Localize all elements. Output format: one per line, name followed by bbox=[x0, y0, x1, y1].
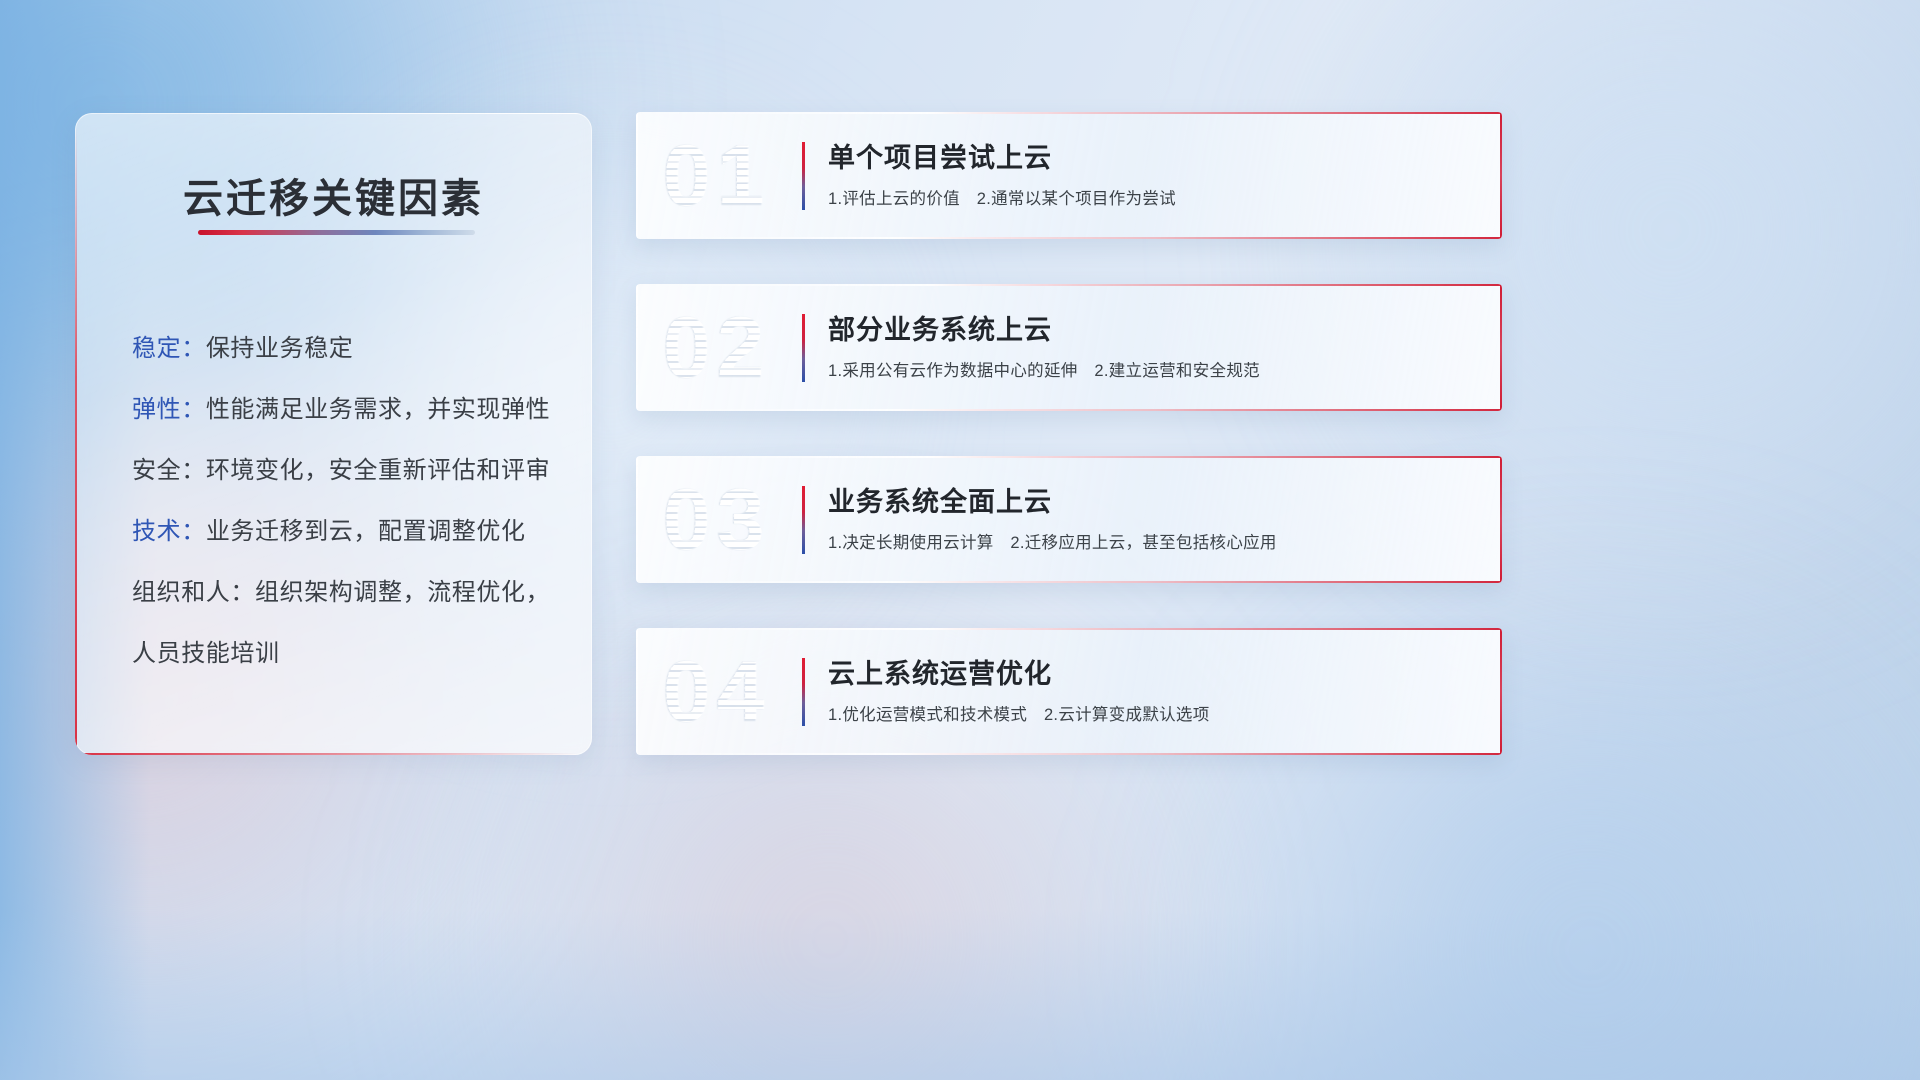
step-card-02[interactable]: 02 02 02 部分业务系统上云 1.采用公有云作为数据中心的延伸 2.建立运… bbox=[636, 284, 1502, 411]
step-body: 业务系统全面上云 1.决定长期使用云计算 2.迁移应用上云，甚至包括核心应用 bbox=[828, 483, 1478, 554]
card-edge-right-accent bbox=[1500, 456, 1502, 583]
factor-value: 环境变化，安全重新评估和评审 bbox=[206, 457, 550, 484]
factor-item-organization: 组织和人：组织架构调整，流程优化， bbox=[132, 562, 558, 623]
step-accent-bar bbox=[802, 142, 805, 210]
factor-item-organization-cont: 人员技能培训 bbox=[132, 623, 558, 684]
page-title: 云迁移关键因素 bbox=[75, 166, 592, 224]
step-description: 1.评估上云的价值 2.通常以某个项目作为尝试 bbox=[828, 188, 1478, 210]
step-description: 1.采用公有云作为数据中心的延伸 2.建立运营和安全规范 bbox=[828, 360, 1478, 382]
background-edge-bottom bbox=[0, 910, 1920, 1080]
card-edge-bottom-accent bbox=[77, 753, 580, 755]
card-edge-left bbox=[636, 284, 638, 411]
factor-list: 稳定：保持业务稳定 弹性：性能满足业务需求，并实现弹性 安全：环境变化，安全重新… bbox=[132, 318, 558, 684]
card-edge-left bbox=[636, 456, 638, 583]
factor-item-security: 安全：环境变化，安全重新评估和评审 bbox=[132, 440, 558, 501]
factor-item-elasticity: 弹性：性能满足业务需求，并实现弹性 bbox=[132, 379, 558, 440]
factor-item-technology: 技术：业务迁移到云，配置调整优化 bbox=[132, 501, 558, 562]
card-edge-left bbox=[636, 112, 638, 239]
step-number-watermark: 03 bbox=[662, 477, 770, 563]
card-edge-right-accent bbox=[1500, 112, 1502, 239]
factor-label: 弹性： bbox=[132, 396, 206, 423]
factor-item-stability: 稳定：保持业务稳定 bbox=[132, 318, 558, 379]
title-underline-gradient bbox=[198, 230, 475, 235]
step-description: 1.决定长期使用云计算 2.迁移应用上云，甚至包括核心应用 bbox=[828, 532, 1478, 554]
step-card-03[interactable]: 03 03 03 业务系统全面上云 1.决定长期使用云计算 2.迁移应用上云，甚… bbox=[636, 456, 1502, 583]
step-title: 部分业务系统上云 bbox=[828, 311, 1478, 349]
card-edge-bottom-accent bbox=[636, 237, 1502, 239]
card-edge-top-accent bbox=[636, 112, 1502, 114]
step-card-04[interactable]: 04 04 04 云上系统运营优化 1.优化运营模式和技术模式 2.云计算变成默… bbox=[636, 628, 1502, 755]
card-edge-top-accent bbox=[636, 284, 1502, 286]
factor-label: 安全： bbox=[132, 457, 206, 484]
card-edge-top-accent bbox=[636, 628, 1502, 630]
step-number-watermark: 02 bbox=[662, 305, 770, 391]
factor-value: 性能满足业务需求，并实现弹性 bbox=[206, 396, 550, 423]
factor-label: 技术： bbox=[132, 518, 206, 545]
step-number-watermark: 01 bbox=[662, 133, 770, 219]
step-description: 1.优化运营模式和技术模式 2.云计算变成默认选项 bbox=[828, 704, 1478, 726]
step-accent-bar bbox=[802, 314, 805, 382]
step-title: 云上系统运营优化 bbox=[828, 655, 1478, 693]
step-number-watermark: 04 bbox=[662, 649, 770, 735]
card-edge-right-accent bbox=[1500, 628, 1502, 755]
key-factors-card: 云迁移关键因素 稳定：保持业务稳定 弹性：性能满足业务需求，并实现弹性 安全：环… bbox=[75, 113, 592, 755]
step-card-01[interactable]: 01 01 01 单个项目尝试上云 1.评估上云的价值 2.通常以某个项目作为尝… bbox=[636, 112, 1502, 239]
step-accent-bar bbox=[802, 486, 805, 554]
factor-value: 保持业务稳定 bbox=[206, 335, 354, 362]
migration-steps-list: 01 01 01 单个项目尝试上云 1.评估上云的价值 2.通常以某个项目作为尝… bbox=[636, 112, 1502, 800]
card-edge-bottom-accent bbox=[636, 581, 1502, 583]
card-edge-right-accent bbox=[1500, 284, 1502, 411]
card-edge-left bbox=[636, 628, 638, 755]
card-edge-top-accent bbox=[636, 456, 1502, 458]
step-accent-bar bbox=[802, 658, 805, 726]
factor-label: 组织和人： bbox=[132, 579, 255, 606]
card-edge-bottom-accent bbox=[636, 753, 1502, 755]
factor-value: 人员技能培训 bbox=[132, 640, 280, 667]
factor-value: 组织架构调整，流程优化， bbox=[255, 579, 550, 606]
factor-label: 稳定： bbox=[132, 335, 206, 362]
step-body: 单个项目尝试上云 1.评估上云的价值 2.通常以某个项目作为尝试 bbox=[828, 139, 1478, 210]
step-body: 部分业务系统上云 1.采用公有云作为数据中心的延伸 2.建立运营和安全规范 bbox=[828, 311, 1478, 382]
card-edge-bottom-accent bbox=[636, 409, 1502, 411]
step-title: 业务系统全面上云 bbox=[828, 483, 1478, 521]
card-edge-top bbox=[91, 113, 592, 114]
factor-value: 业务迁移到云，配置调整优化 bbox=[206, 518, 526, 545]
step-title: 单个项目尝试上云 bbox=[828, 139, 1478, 177]
step-body: 云上系统运营优化 1.优化运营模式和技术模式 2.云计算变成默认选项 bbox=[828, 655, 1478, 726]
